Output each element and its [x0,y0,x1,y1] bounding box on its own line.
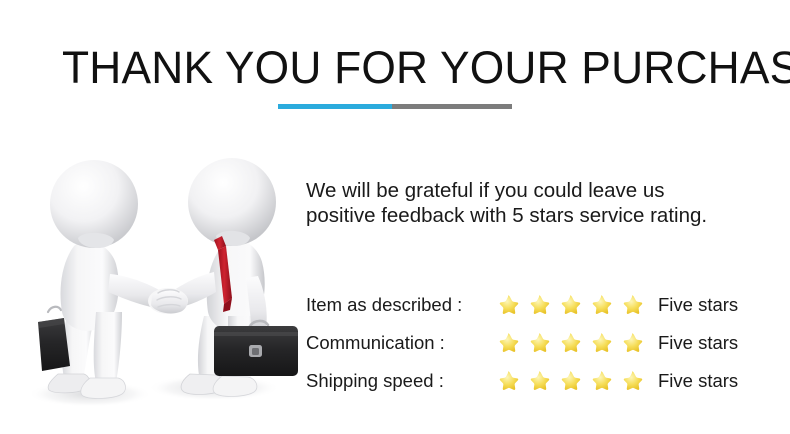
star-rating [496,369,644,393]
title-divider [278,104,512,109]
rating-row-item-as-described: Item as described : Five stars [306,286,784,324]
star-icon [589,331,613,355]
handshake-hands [148,288,188,314]
star-icon [496,331,520,355]
handshake-illustration [18,126,308,421]
rating-label: Item as described : [306,294,496,316]
star-icon [558,369,582,393]
rating-list: Item as described : Five stars Communica… [306,286,784,400]
rating-label: Shipping speed : [306,370,496,392]
star-icon [527,331,551,355]
page-title: THANK YOU FOR YOUR PURCHASE [62,42,722,94]
feedback-message: We will be grateful if you could leave u… [306,178,776,228]
rating-value: Five stars [658,294,738,316]
star-rating [496,293,644,317]
star-icon [620,369,644,393]
message-line-1: We will be grateful if you could leave u… [306,178,776,203]
star-icon [496,369,520,393]
star-icon [558,331,582,355]
rating-value: Five stars [658,370,738,392]
star-icon [620,293,644,317]
star-icon [589,293,613,317]
rating-row-shipping-speed: Shipping speed : Five stars [306,362,784,400]
star-icon [558,293,582,317]
rating-row-communication: Communication : Five stars [306,324,784,362]
thank-you-banner: THANK YOU FOR YOUR PURCHASE [0,0,790,434]
figure-right [164,158,298,396]
star-icon [527,369,551,393]
divider-accent-segment [278,104,392,109]
rating-label: Communication : [306,332,496,354]
star-icon [527,293,551,317]
star-icon [589,369,613,393]
star-icon [496,293,520,317]
star-rating [496,331,644,355]
message-line-2: positive feedback with 5 stars service r… [306,203,776,228]
rating-value: Five stars [658,332,738,354]
star-icon [620,331,644,355]
figure-left [38,160,170,398]
briefcase-right [214,321,298,376]
divider-secondary-segment [392,104,512,109]
